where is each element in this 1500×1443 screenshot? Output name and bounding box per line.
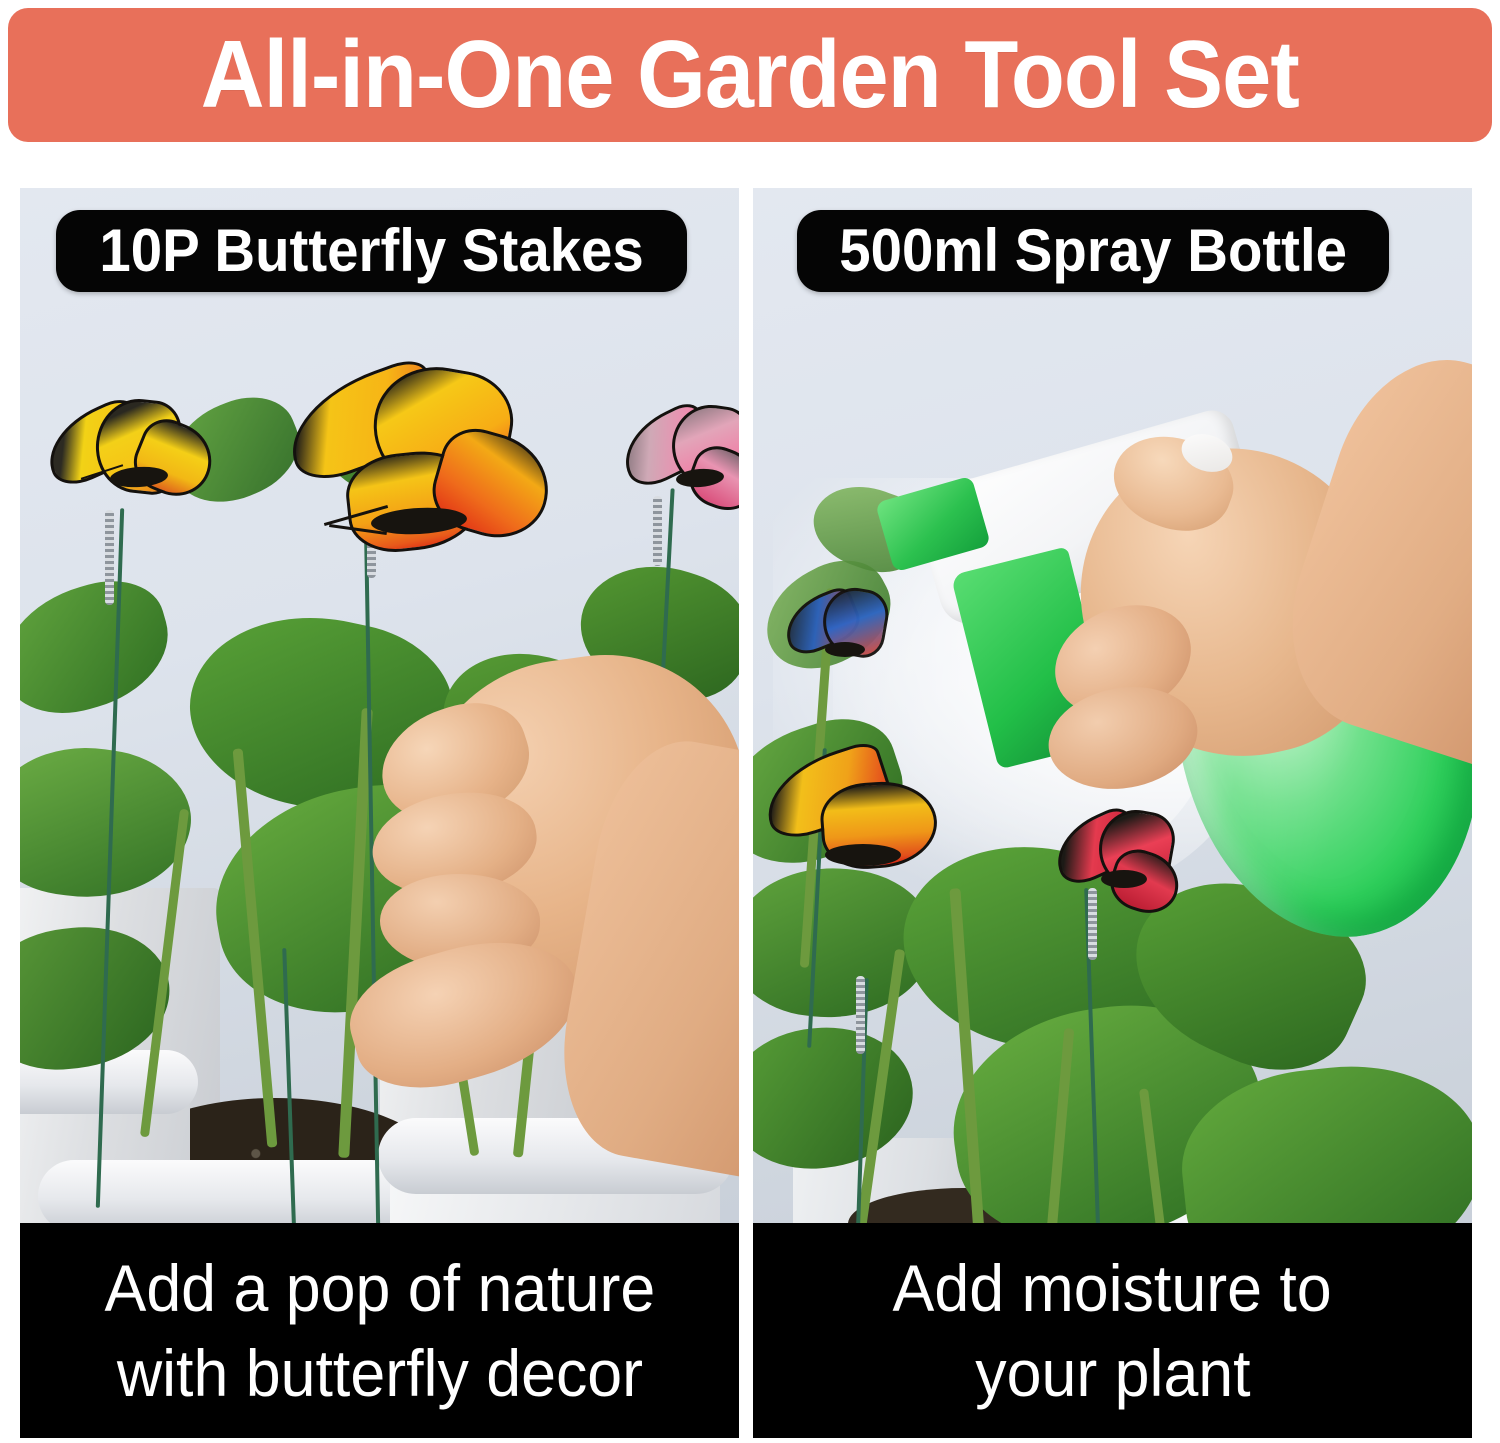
butterfly-stake-orange bbox=[763, 748, 963, 898]
badge-spray-bottle: 500ml Spray Bottle bbox=[797, 210, 1389, 292]
caption-line-1: Add moisture to bbox=[893, 1246, 1332, 1330]
caption-line-2: with butterfly decor bbox=[116, 1331, 642, 1415]
panel-butterfly-stakes: 10P Butterfly Stakes Add a pop of nature… bbox=[20, 188, 739, 1438]
badge-label: 10P Butterfly Stakes bbox=[99, 221, 643, 281]
pot-rim-front-center bbox=[38, 1160, 408, 1232]
butterfly-stake-orange bbox=[285, 368, 545, 568]
butterfly-body bbox=[1101, 870, 1147, 888]
badge-butterfly-stakes: 10P Butterfly Stakes bbox=[56, 210, 687, 292]
stake-coil bbox=[856, 976, 865, 1054]
page-title: All-in-One Garden Tool Set bbox=[201, 27, 1299, 123]
panel-spray-bottle: 500ml Spray Bottle Add moisture to your … bbox=[753, 188, 1472, 1438]
caption-spray-bottle: Add moisture to your plant bbox=[753, 1223, 1472, 1438]
caption-butterfly-stakes: Add a pop of nature with butterfly decor bbox=[20, 1223, 739, 1438]
caption-line-2: your plant bbox=[975, 1331, 1250, 1415]
header-banner: All-in-One Garden Tool Set bbox=[8, 8, 1492, 142]
caption-line-1: Add a pop of nature bbox=[104, 1246, 655, 1330]
butterfly-stake-red bbox=[1053, 808, 1183, 918]
butterfly-body bbox=[825, 642, 865, 657]
butterfly-body bbox=[825, 844, 901, 866]
badge-label: 500ml Spray Bottle bbox=[839, 221, 1347, 281]
panel-container: 10P Butterfly Stakes Add a pop of nature… bbox=[20, 188, 1472, 1438]
butterfly-stake-yellow bbox=[44, 393, 214, 533]
leaf bbox=[20, 567, 183, 729]
butterfly-stake-blue bbox=[783, 588, 893, 683]
butterfly-stake-pink bbox=[620, 403, 739, 523]
